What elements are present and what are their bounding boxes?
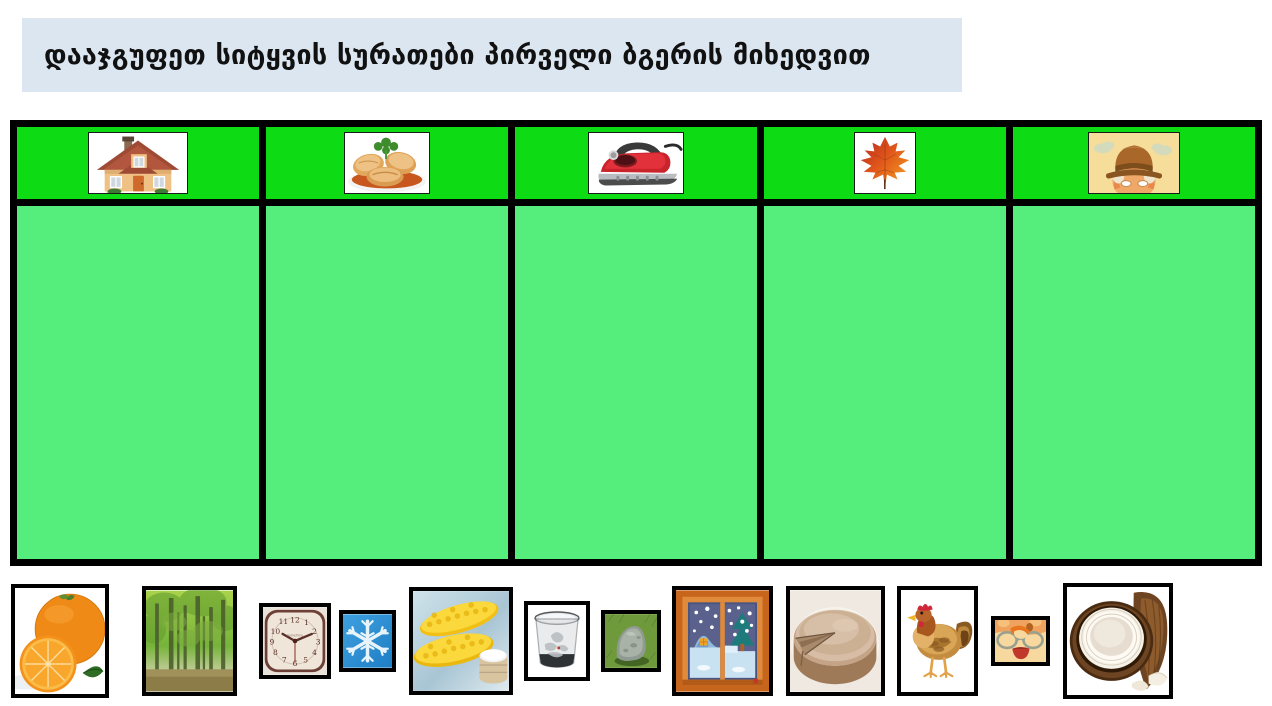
leaf-icon <box>854 132 916 194</box>
picture-strip: 12 1 2 3 4 5 6 7 8 9 10 11 HomeTime <box>0 575 1272 706</box>
sorting-table <box>10 120 1262 566</box>
svg-text:7: 7 <box>282 655 287 664</box>
window-icon[interactable] <box>672 586 773 696</box>
svg-text:HomeTime: HomeTime <box>287 633 303 637</box>
drop-zone-house[interactable] <box>17 206 259 559</box>
title-banner: დააჯგუფეთ სიტყვის სურათები პირველი ბგერი… <box>22 18 962 92</box>
category-header-leaf[interactable] <box>764 127 1006 199</box>
svg-text:9: 9 <box>269 637 274 646</box>
hen-icon[interactable] <box>897 586 978 696</box>
drop-zone-iron[interactable] <box>515 206 757 559</box>
corn-icon[interactable] <box>409 587 513 695</box>
svg-text:3: 3 <box>316 637 321 646</box>
drop-zone-leaf[interactable] <box>764 206 1006 559</box>
svg-text:10: 10 <box>271 626 281 635</box>
drop-zone-dolma[interactable] <box>266 206 508 559</box>
stone-icon[interactable] <box>601 610 661 672</box>
svg-text:12: 12 <box>290 615 300 624</box>
house-icon <box>88 132 188 194</box>
page-title: დააჯგუფეთ სიტყვის სურათები პირველი ბგერი… <box>44 40 871 71</box>
coconut-icon[interactable] <box>1063 583 1173 699</box>
snowflake-icon[interactable] <box>339 610 396 672</box>
svg-text:2: 2 <box>312 626 317 635</box>
svg-text:4: 4 <box>312 648 317 657</box>
iron-icon <box>588 132 684 194</box>
wastebasket-icon[interactable] <box>524 601 590 681</box>
svg-text:11: 11 <box>279 617 289 626</box>
cheese-icon[interactable] <box>786 586 885 696</box>
category-header-house[interactable] <box>17 127 259 199</box>
hat-icon <box>1088 132 1180 194</box>
clock-icon[interactable]: 12 1 2 3 4 5 6 7 8 9 10 11 HomeTime <box>259 603 331 679</box>
category-header-iron[interactable] <box>515 127 757 199</box>
category-header-dolma[interactable] <box>266 127 508 199</box>
forest-icon[interactable] <box>142 586 237 696</box>
svg-text:1: 1 <box>304 618 309 627</box>
face-icon[interactable] <box>991 616 1050 666</box>
drop-zone-hat[interactable] <box>1013 206 1255 559</box>
svg-text:5: 5 <box>303 655 308 664</box>
dolma-icon <box>344 132 430 194</box>
sorting-table-header-row <box>17 127 1255 199</box>
orange-icon[interactable] <box>11 584 109 698</box>
svg-text:8: 8 <box>273 648 278 657</box>
sorting-table-drop-row <box>17 206 1255 559</box>
category-header-hat[interactable] <box>1013 127 1255 199</box>
